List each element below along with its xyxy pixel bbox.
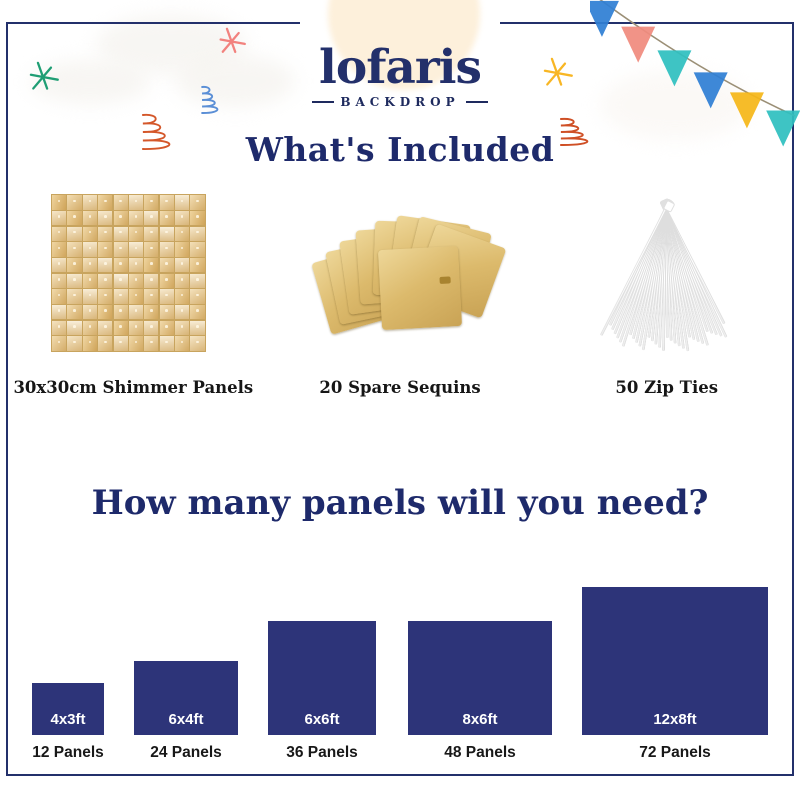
shimmer-sequin-tile bbox=[83, 242, 97, 257]
size-bar: 6x6ft bbox=[268, 621, 376, 735]
shimmer-sequin-tile bbox=[190, 336, 204, 350]
shimmer-sequin-tile bbox=[114, 305, 128, 319]
shimmer-sequin-tile bbox=[67, 227, 81, 241]
shimmer-sequin-tile bbox=[129, 321, 143, 336]
red-spiral-icon bbox=[540, 116, 592, 160]
shimmer-sequin-tile bbox=[114, 289, 128, 304]
shimmer-sequin-tile bbox=[160, 289, 174, 304]
shimmer-sequin-tile bbox=[144, 258, 158, 272]
shimmer-sequin-tile bbox=[175, 336, 189, 350]
size-bar: 4x3ft bbox=[32, 683, 104, 735]
shimmer-sequin-tile bbox=[129, 274, 143, 289]
shimmer-sequin-tile bbox=[52, 321, 66, 336]
bunting-flag bbox=[590, 1, 619, 37]
shimmer-sequin-tile bbox=[114, 321, 128, 336]
size-bar-label: 8x6ft bbox=[462, 711, 497, 735]
shimmer-sequin-tile bbox=[114, 258, 128, 272]
shimmer-sequin-tile bbox=[190, 321, 204, 336]
white-zip-tie-bundle-icon bbox=[584, 196, 749, 356]
shimmer-sequin-tile bbox=[67, 321, 81, 336]
shimmer-sequin-tile bbox=[83, 321, 97, 336]
bunting-flag bbox=[766, 110, 800, 146]
brand-wordmark: lofaris bbox=[0, 42, 800, 94]
shimmer-sequin-tile bbox=[144, 321, 158, 336]
panel-count-label: 24 Panels bbox=[150, 744, 222, 762]
shimmer-sequin-tile bbox=[83, 211, 97, 226]
product-item-spare-sequins: 20 Spare Sequins bbox=[267, 190, 534, 420]
shimmer-sequin-tile bbox=[175, 305, 189, 319]
shimmer-sequin-tile bbox=[129, 336, 143, 350]
shimmer-panel-grid-icon bbox=[51, 194, 206, 352]
shimmer-sequin-tile bbox=[67, 258, 81, 272]
size-column-8x6ft: 8x6ft48 Panels bbox=[408, 621, 552, 762]
shimmer-sequin-tile bbox=[52, 258, 66, 272]
panel-size-chart: 4x3ft12 Panels6x4ft24 Panels6x6ft36 Pane… bbox=[0, 552, 800, 762]
shimmer-sequin-tile bbox=[83, 305, 97, 319]
shimmer-sequin-tile bbox=[67, 274, 81, 289]
shimmer-sequin-tile bbox=[144, 336, 158, 350]
size-bar: 12x8ft bbox=[582, 587, 768, 735]
shimmer-sequin-tile bbox=[175, 289, 189, 304]
panel-calculator-heading: How many panels will you need? bbox=[0, 483, 800, 523]
panel-count-label: 36 Panels bbox=[286, 744, 358, 762]
shimmer-sequin-tile bbox=[144, 242, 158, 257]
shimmer-sequin-tile bbox=[52, 211, 66, 226]
shimmer-sequin-tile bbox=[129, 227, 143, 241]
shimmer-sequin-tile bbox=[98, 195, 112, 209]
shimmer-sequin-tile bbox=[160, 211, 174, 226]
tagline-rule-right bbox=[466, 101, 488, 104]
size-column-4x3ft: 4x3ft12 Panels bbox=[32, 683, 104, 762]
shimmer-sequin-tile bbox=[114, 211, 128, 226]
shimmer-sequin-tile bbox=[114, 242, 128, 257]
gold-sequin bbox=[377, 246, 461, 330]
shimmer-sequin-tile bbox=[98, 258, 112, 272]
shimmer-sequin-tile bbox=[83, 227, 97, 241]
shimmer-sequin-tile bbox=[175, 242, 189, 257]
shimmer-sequin-tile bbox=[129, 258, 143, 272]
product-label: 20 Spare Sequins bbox=[319, 378, 480, 397]
shimmer-sequin-tile bbox=[52, 305, 66, 319]
shimmer-sequin-tile bbox=[67, 195, 81, 209]
shimmer-panel-image bbox=[51, 190, 216, 360]
shimmer-sequin-tile bbox=[67, 211, 81, 226]
shimmer-sequin-tile bbox=[114, 195, 128, 209]
size-bar: 6x4ft bbox=[134, 661, 238, 735]
shimmer-sequin-tile bbox=[160, 227, 174, 241]
shimmer-sequin-tile bbox=[98, 211, 112, 226]
brand-tagline: BACKDROP bbox=[340, 95, 459, 109]
size-bar: 8x6ft bbox=[408, 621, 552, 735]
shimmer-sequin-tile bbox=[175, 195, 189, 209]
zip-ties-image bbox=[584, 190, 749, 360]
shimmer-sequin-tile bbox=[160, 321, 174, 336]
shimmer-sequin-tile bbox=[175, 274, 189, 289]
product-row: 30x30cm Shimmer Panels 20 Spare Sequins … bbox=[0, 190, 800, 420]
shimmer-sequin-tile bbox=[190, 195, 204, 209]
shimmer-sequin-tile bbox=[83, 195, 97, 209]
shimmer-sequin-tile bbox=[98, 305, 112, 319]
size-bar-label: 12x8ft bbox=[653, 711, 696, 735]
shimmer-sequin-tile bbox=[144, 305, 158, 319]
product-item-shimmer-panels: 30x30cm Shimmer Panels bbox=[0, 190, 267, 420]
shimmer-sequin-tile bbox=[52, 227, 66, 241]
size-column-6x4ft: 6x4ft24 Panels bbox=[134, 661, 238, 762]
brand-tagline-row: BACKDROP bbox=[0, 95, 800, 109]
shimmer-sequin-tile bbox=[175, 258, 189, 272]
shimmer-sequin-tile bbox=[160, 195, 174, 209]
shimmer-sequin-tile bbox=[160, 274, 174, 289]
shimmer-sequin-tile bbox=[144, 211, 158, 226]
panel-count-label: 48 Panels bbox=[444, 744, 516, 762]
shimmer-sequin-tile bbox=[83, 258, 97, 272]
shimmer-sequin-tile bbox=[190, 305, 204, 319]
shimmer-sequin-tile bbox=[190, 274, 204, 289]
shimmer-sequin-tile bbox=[67, 242, 81, 257]
sequin-mount-hole bbox=[439, 276, 450, 284]
size-bar-label: 6x4ft bbox=[168, 711, 203, 735]
shimmer-sequin-tile bbox=[52, 274, 66, 289]
shimmer-sequin-tile bbox=[98, 289, 112, 304]
shimmer-sequin-tile bbox=[190, 227, 204, 241]
shimmer-sequin-tile bbox=[129, 195, 143, 209]
shimmer-sequin-tile bbox=[98, 274, 112, 289]
shimmer-sequin-tile bbox=[129, 289, 143, 304]
shimmer-sequin-tile bbox=[83, 289, 97, 304]
shimmer-sequin-tile bbox=[114, 274, 128, 289]
shimmer-sequin-tile bbox=[83, 336, 97, 350]
size-bar-label: 6x6ft bbox=[304, 711, 339, 735]
orange-spiral-icon bbox=[122, 112, 174, 164]
card-border-bottom bbox=[6, 774, 794, 776]
shimmer-sequin-tile bbox=[98, 336, 112, 350]
shimmer-sequin-tile bbox=[98, 321, 112, 336]
product-item-zip-ties: 50 Zip Ties bbox=[533, 190, 800, 420]
shimmer-sequin-tile bbox=[144, 289, 158, 304]
shimmer-sequin-tile bbox=[67, 289, 81, 304]
shimmer-sequin-tile bbox=[144, 227, 158, 241]
shimmer-sequin-tile bbox=[160, 258, 174, 272]
size-column-6x6ft: 6x6ft36 Panels bbox=[268, 621, 376, 762]
shimmer-sequin-tile bbox=[98, 227, 112, 241]
gold-sequin-stack-icon bbox=[318, 208, 508, 338]
size-column-12x8ft: 12x8ft72 Panels bbox=[582, 587, 768, 762]
shimmer-sequin-tile bbox=[67, 305, 81, 319]
shimmer-sequin-tile bbox=[114, 336, 128, 350]
panel-count-label: 12 Panels bbox=[32, 744, 104, 762]
shimmer-sequin-tile bbox=[144, 274, 158, 289]
shimmer-sequin-tile bbox=[83, 274, 97, 289]
tagline-rule-left bbox=[312, 101, 334, 104]
shimmer-sequin-tile bbox=[190, 242, 204, 257]
shimmer-sequin-tile bbox=[52, 242, 66, 257]
shimmer-sequin-tile bbox=[67, 336, 81, 350]
brand-logo: lofaris BACKDROP bbox=[0, 42, 800, 109]
shimmer-sequin-tile bbox=[52, 336, 66, 350]
panel-count-label: 72 Panels bbox=[639, 744, 711, 762]
shimmer-sequin-tile bbox=[160, 242, 174, 257]
shimmer-sequin-tile bbox=[175, 321, 189, 336]
shimmer-sequin-tile bbox=[98, 242, 112, 257]
shimmer-sequin-tile bbox=[160, 305, 174, 319]
spare-sequins-image bbox=[318, 190, 483, 360]
card-border-top-left bbox=[6, 22, 300, 24]
shimmer-sequin-tile bbox=[190, 211, 204, 226]
shimmer-sequin-tile bbox=[175, 227, 189, 241]
shimmer-sequin-tile bbox=[190, 289, 204, 304]
size-bar-label: 4x3ft bbox=[50, 711, 85, 735]
product-label: 30x30cm Shimmer Panels bbox=[13, 378, 253, 397]
shimmer-sequin-tile bbox=[129, 305, 143, 319]
shimmer-sequin-tile bbox=[52, 289, 66, 304]
shimmer-sequin-tile bbox=[129, 211, 143, 226]
product-label: 50 Zip Ties bbox=[615, 378, 718, 397]
infographic-card: lofaris BACKDROP What's Included 30x30cm… bbox=[0, 0, 800, 800]
shimmer-sequin-tile bbox=[160, 336, 174, 350]
shimmer-sequin-tile bbox=[52, 195, 66, 209]
shimmer-sequin-tile bbox=[175, 211, 189, 226]
shimmer-sequin-tile bbox=[114, 227, 128, 241]
shimmer-sequin-tile bbox=[144, 195, 158, 209]
shimmer-sequin-tile bbox=[190, 258, 204, 272]
shimmer-sequin-tile bbox=[129, 242, 143, 257]
